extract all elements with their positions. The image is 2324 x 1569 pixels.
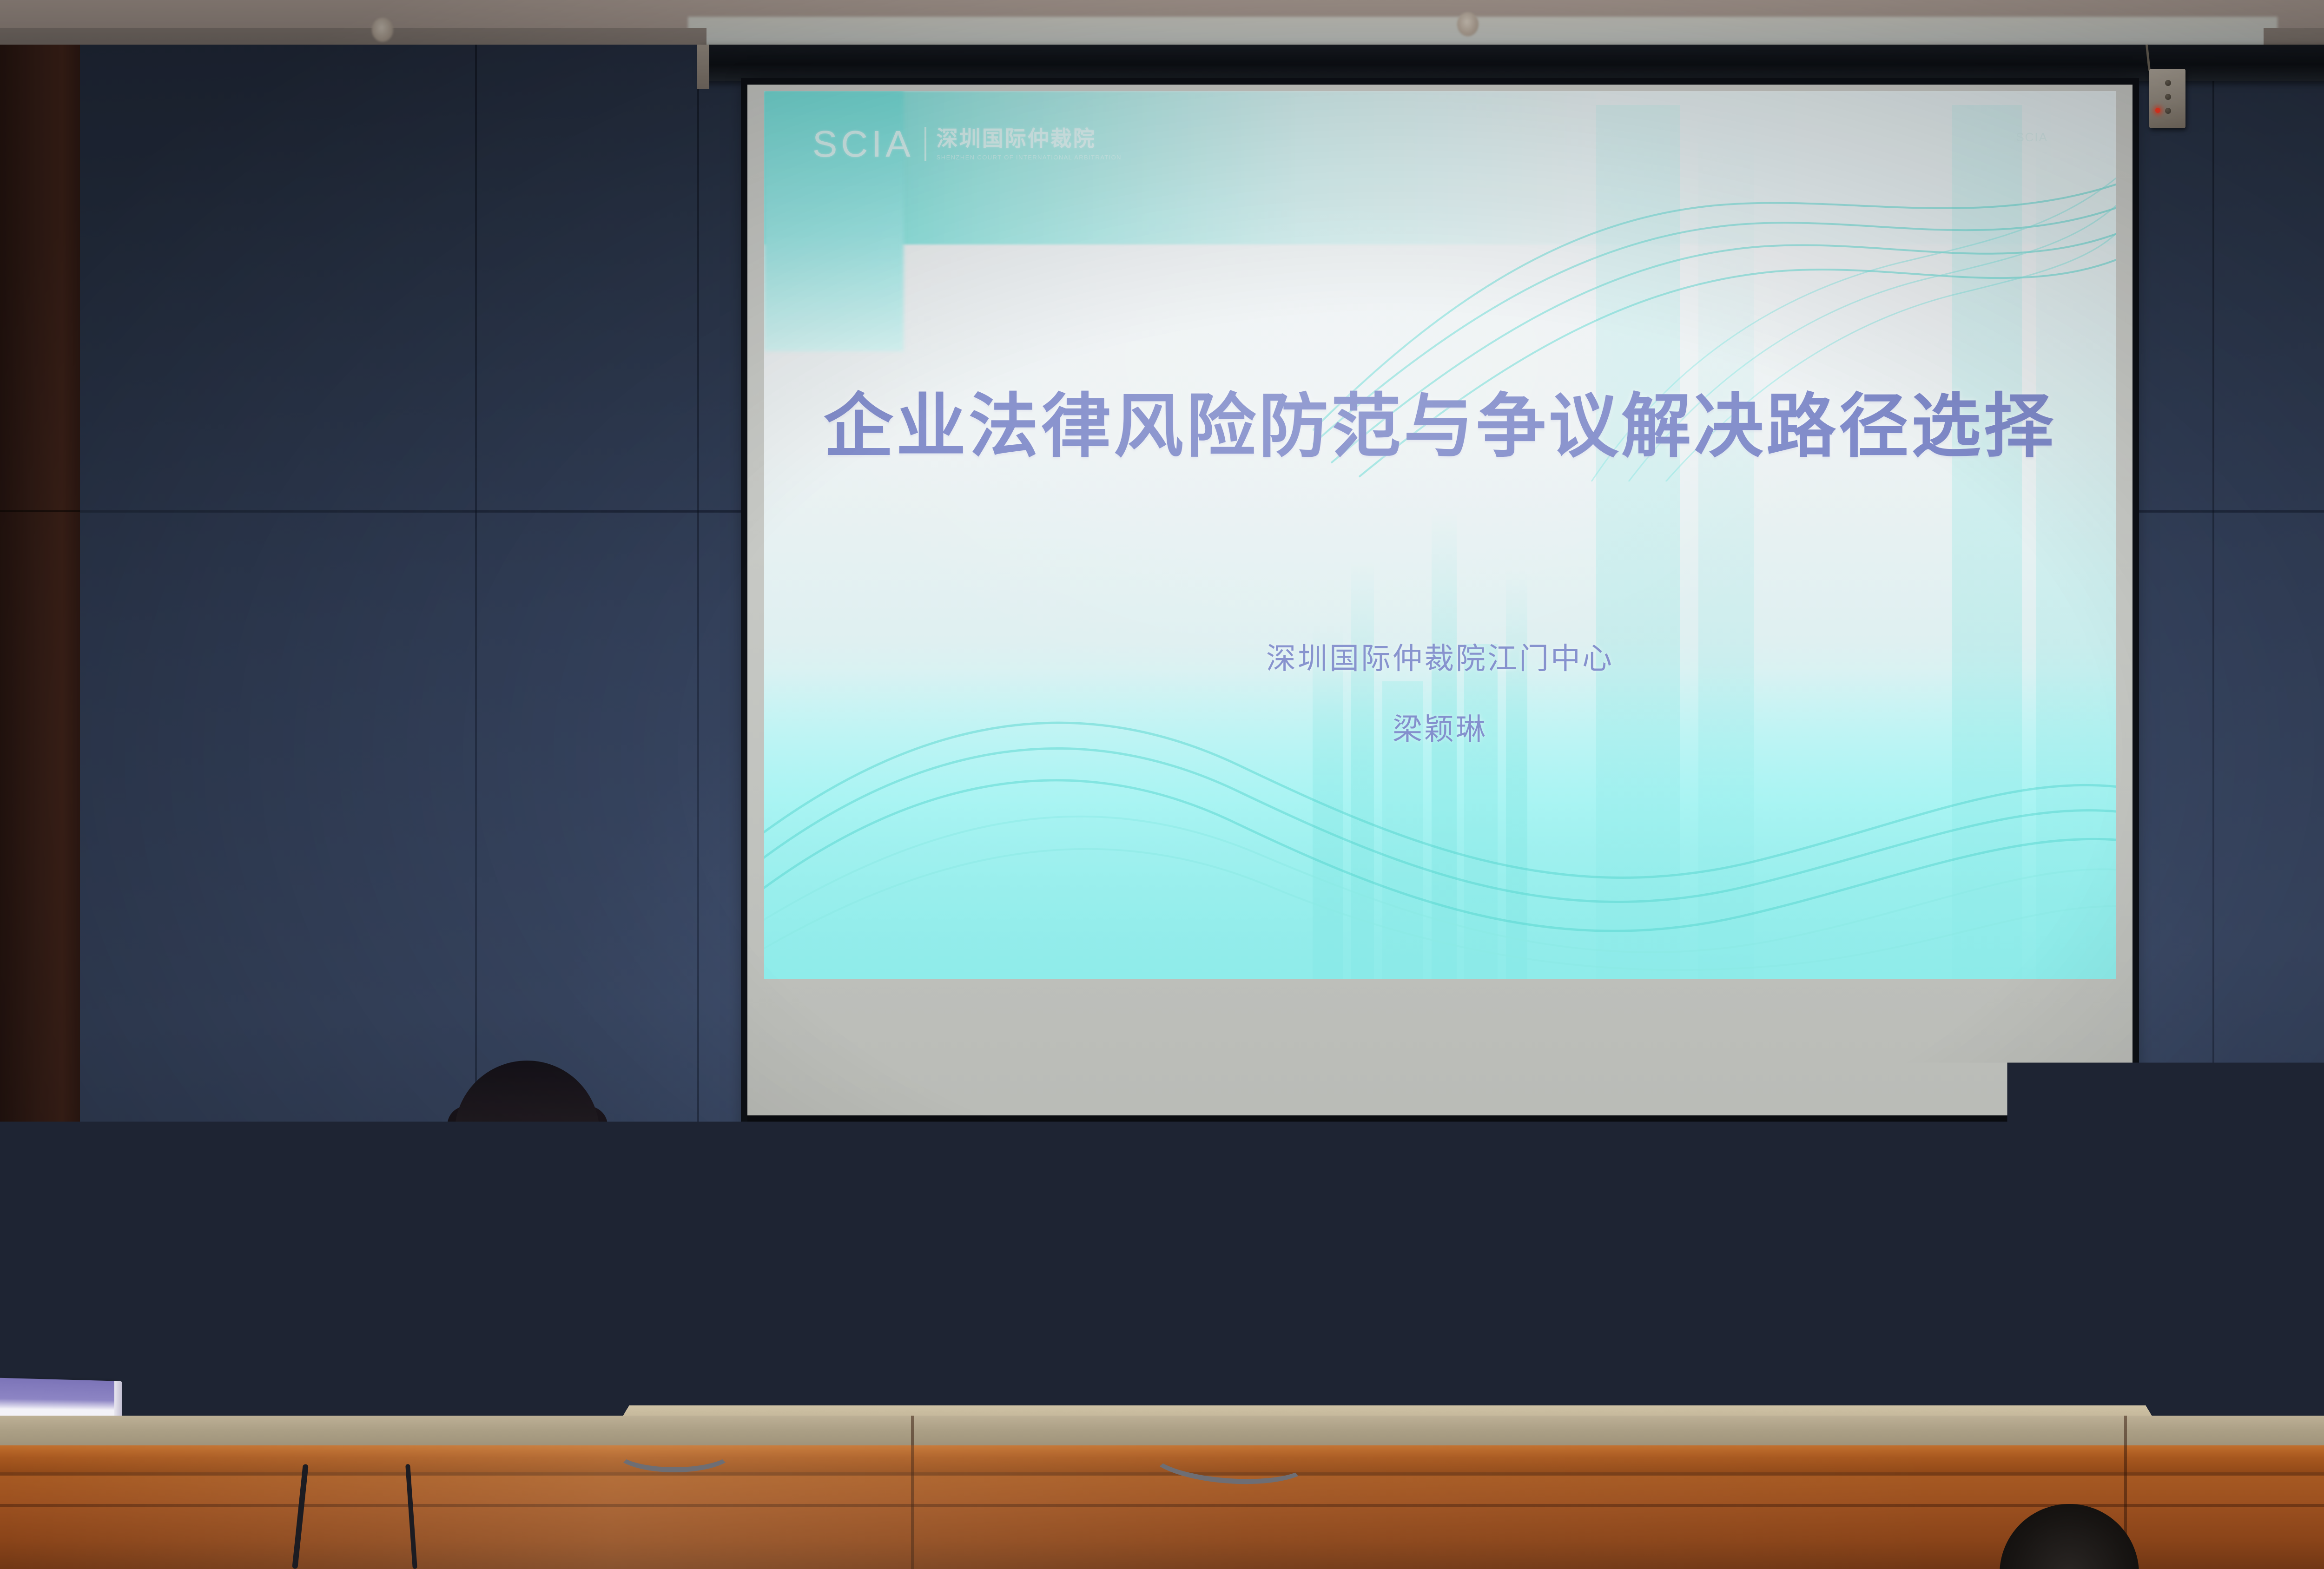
table-molding-groove [0, 1504, 2324, 1507]
chair-top-rail [1354, 1330, 1618, 1368]
downlight-icon [1457, 12, 1479, 36]
audio-cable [614, 1430, 735, 1472]
screen-down-button[interactable] [2165, 108, 2171, 114]
power-led-icon [2155, 108, 2160, 113]
laptop-lid-edge [195, 1301, 465, 1305]
downlight-icon [372, 18, 393, 42]
screen-control-switch[interactable] [2149, 69, 2185, 128]
table-molding-groove [0, 1472, 2324, 1476]
column-seam [0, 510, 80, 512]
microphone-active-ring [424, 1268, 442, 1286]
presenter-eye-left [481, 1147, 509, 1159]
hp-logo-icon [317, 1365, 343, 1392]
presenter-teeth [511, 1184, 543, 1193]
screen-frame [741, 78, 2139, 1156]
screen-bracket-left [697, 45, 709, 89]
table-front-panel [0, 1472, 2324, 1569]
scene-root: SCIA 深圳国际仲裁院 SHENZHEN COURT OF INTERNATI… [0, 0, 2324, 1569]
presenter-eye-right [541, 1146, 570, 1158]
presenter-nose [517, 1152, 536, 1178]
wall-column-left [0, 45, 80, 1434]
projection-screen-housing [702, 45, 2324, 81]
necklace [479, 1241, 574, 1332]
screen-stop-button[interactable] [2165, 94, 2171, 100]
column-seam [0, 1203, 80, 1205]
table-section-gap [911, 1416, 914, 1569]
screen-up-button[interactable] [2165, 80, 2171, 86]
microphone-capsule [1296, 1320, 1321, 1355]
wall-panel-seam [2212, 45, 2214, 1434]
hp-logo-bars [324, 1371, 336, 1386]
